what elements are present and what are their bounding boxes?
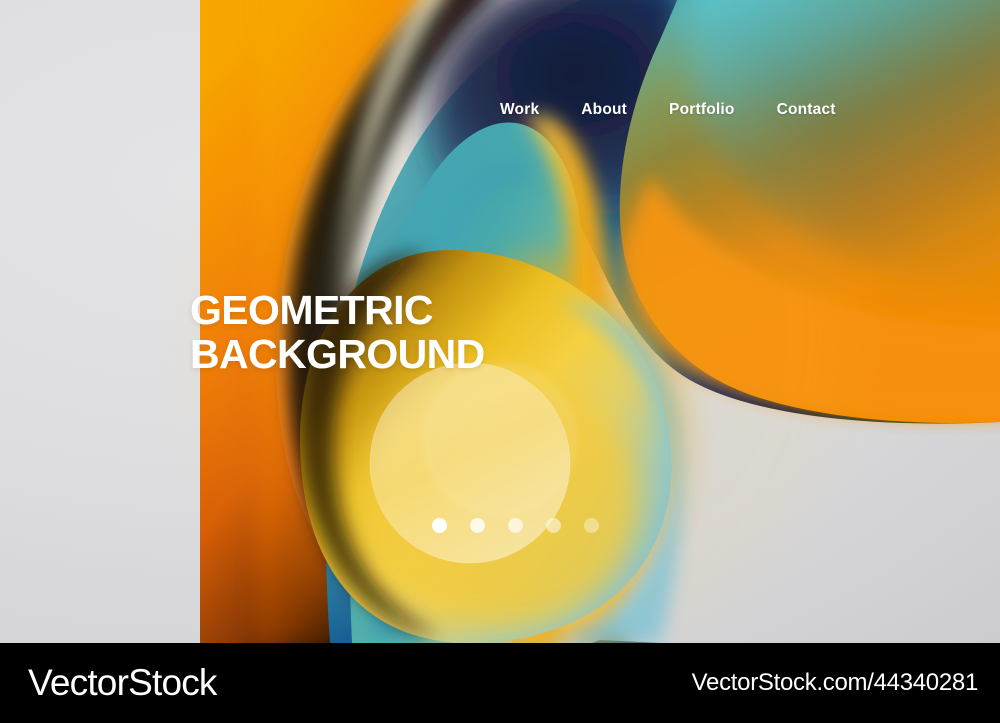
nav-item-work[interactable]: Work: [500, 101, 539, 119]
carousel-dot-4[interactable]: [546, 518, 561, 533]
vectorstock-logo: VectorStock: [28, 662, 217, 704]
hero-heading-line-2: BACKGROUND: [190, 332, 485, 376]
hero-heading: GEOMETRIC BACKGROUND: [190, 288, 485, 376]
vectorstock-url: VectorStock.com/44340281: [692, 669, 978, 697]
nav-item-portfolio[interactable]: Portfolio: [669, 101, 735, 119]
carousel-dot-2[interactable]: [470, 518, 485, 533]
nav-item-about[interactable]: About: [581, 101, 627, 119]
carousel-dot-3[interactable]: [508, 518, 523, 533]
landing-page: Work About Portfolio Contact GEOMETRIC B…: [0, 0, 1000, 723]
main-navigation: Work About Portfolio Contact: [0, 92, 1000, 128]
watermark-footer: VectorStock VectorStock.com/44340281: [0, 643, 1000, 723]
carousel-dot-5[interactable]: [584, 518, 599, 533]
nav-item-contact[interactable]: Contact: [777, 101, 836, 119]
hero-heading-line-1: GEOMETRIC: [190, 288, 485, 332]
carousel-dot-1[interactable]: [432, 518, 447, 533]
carousel-dots: [432, 518, 599, 533]
